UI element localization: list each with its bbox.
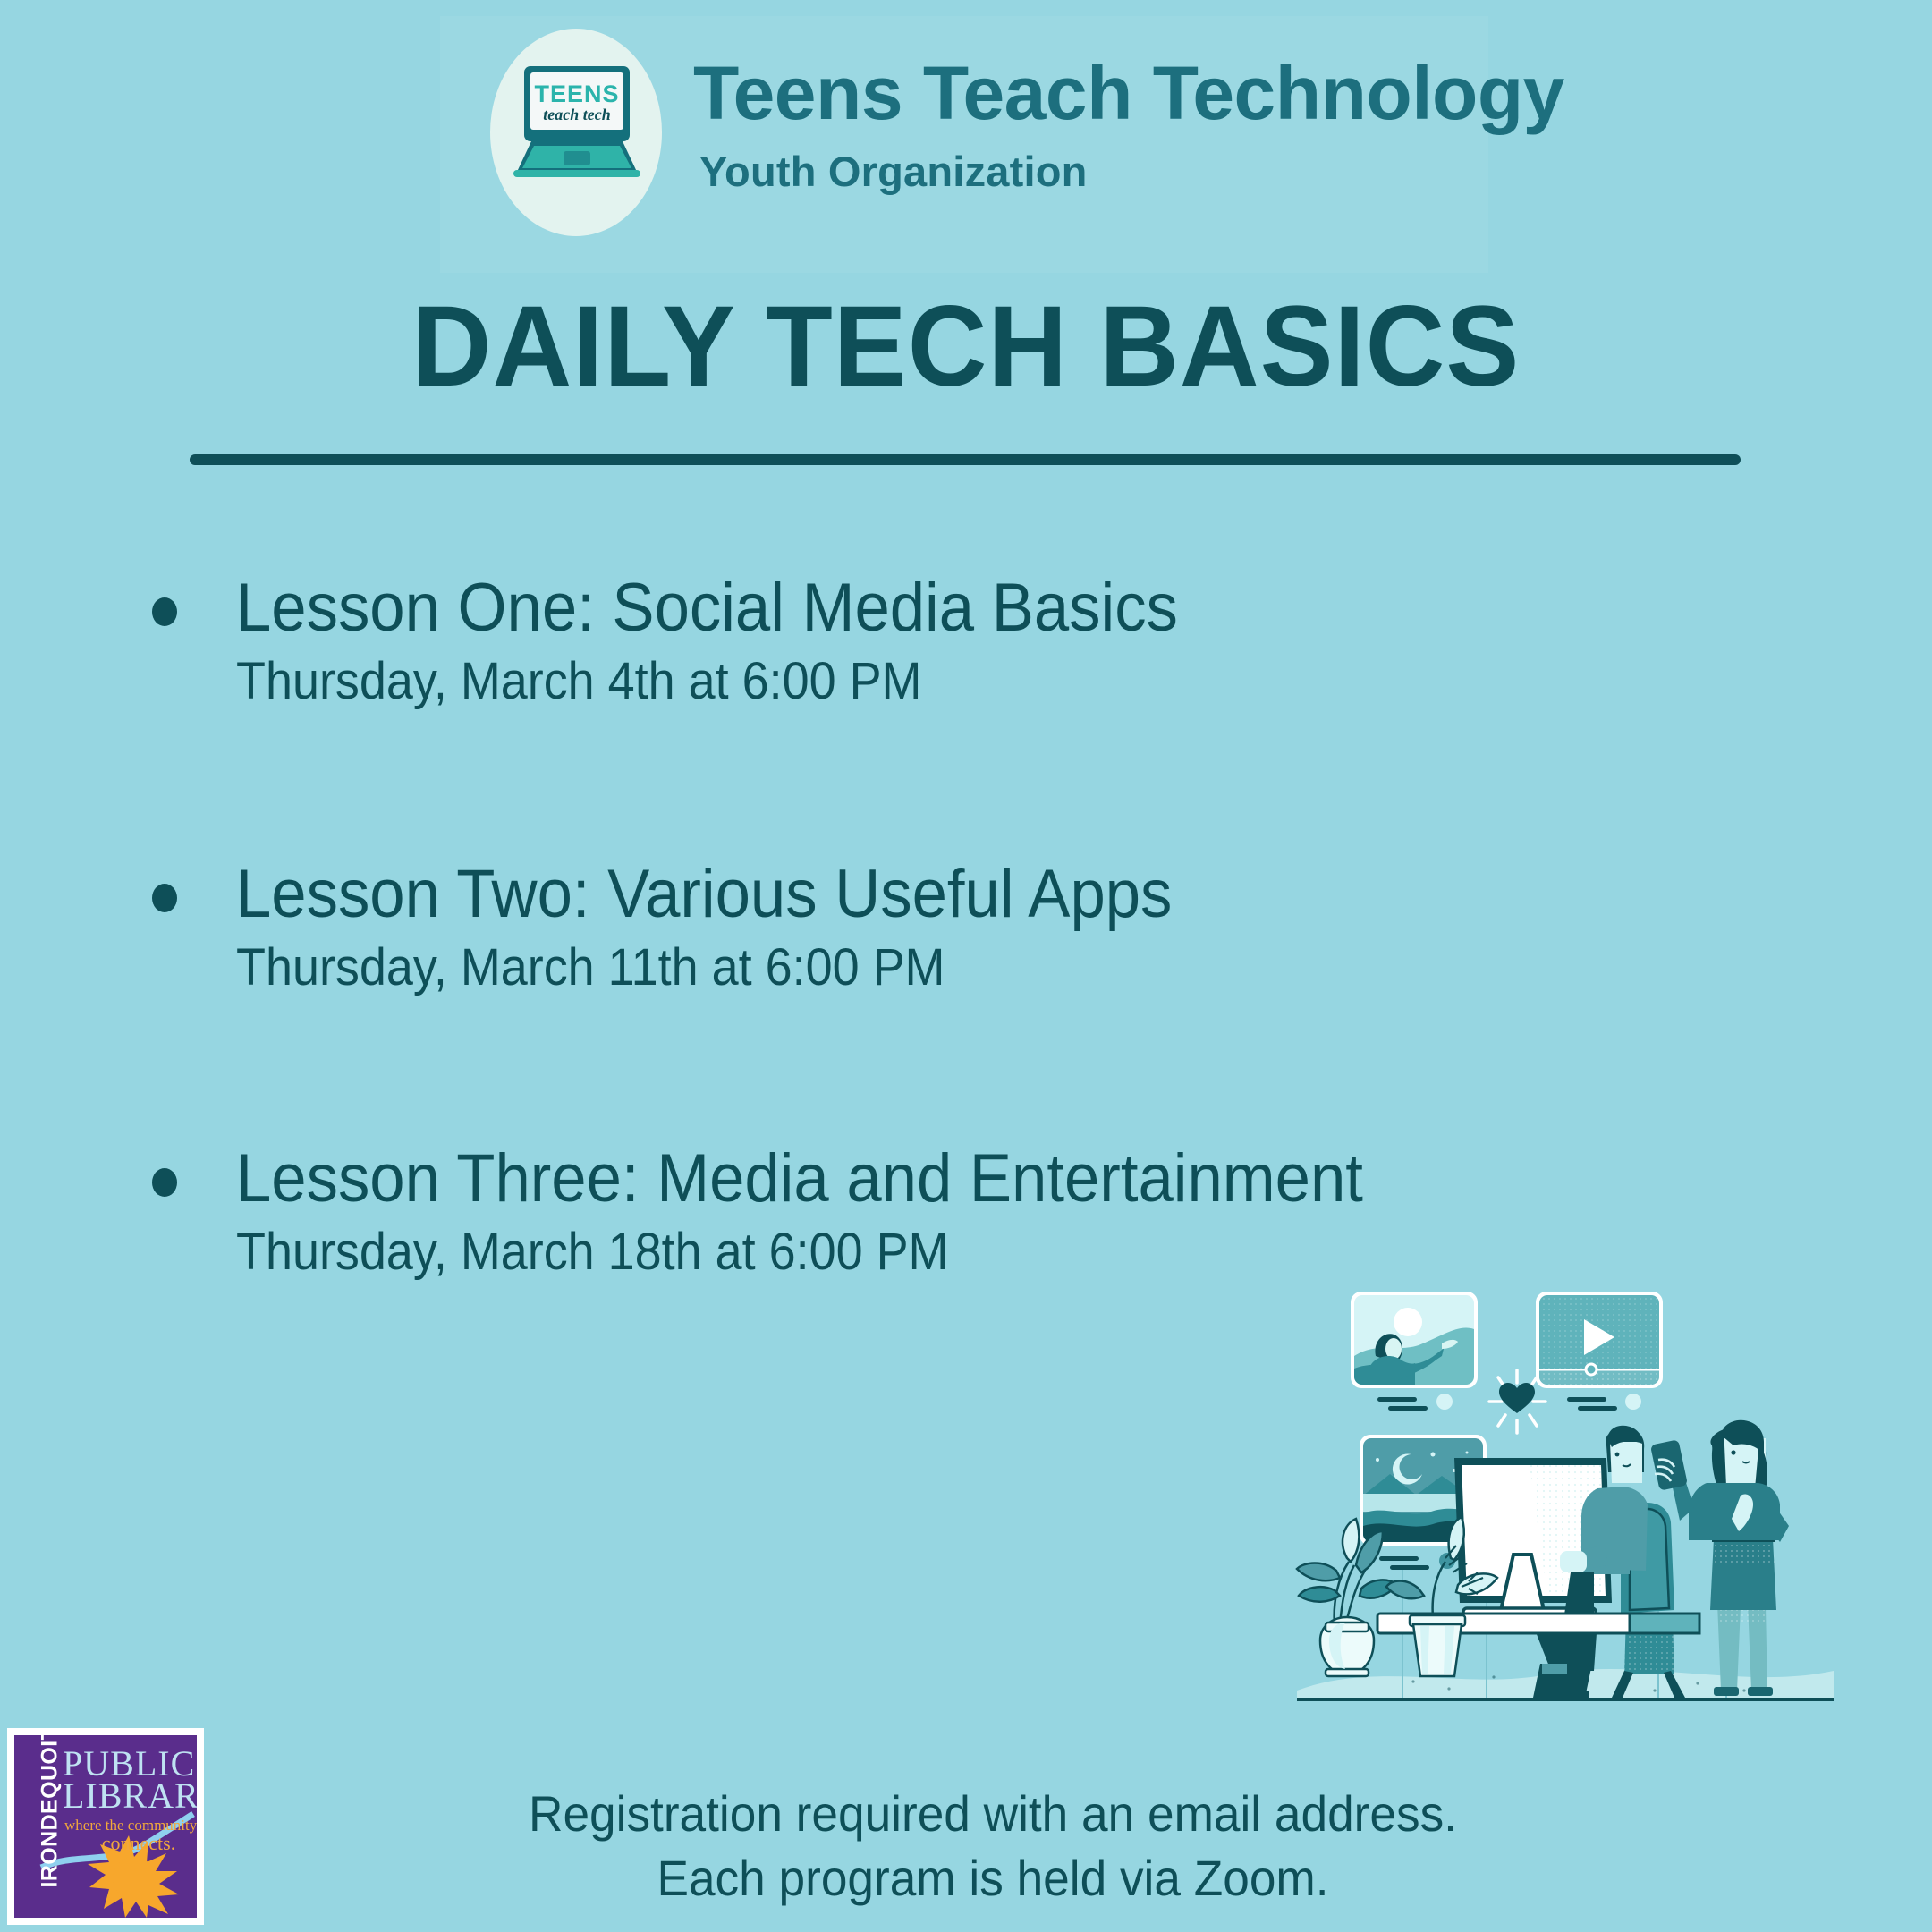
- brand-logo: TEENS teach tech: [490, 29, 662, 236]
- bullet-dot-icon: [152, 597, 177, 626]
- laptop-icon: TEENS teach tech: [512, 64, 642, 179]
- title-divider: [190, 454, 1741, 465]
- library-vertical-name: IRONDEQUOIT: [39, 1735, 62, 1888]
- footer-line-2: Each program is held via Zoom.: [305, 1846, 1682, 1911]
- lesson-title: Lesson Three: Media and Entertainment: [236, 1143, 1363, 1215]
- svg-text:TEENS: TEENS: [534, 80, 619, 107]
- people-using-media-illustration: [1279, 1270, 1851, 1717]
- footer-note: Registration required with an email addr…: [305, 1782, 1682, 1910]
- lesson-date: Thursday, March 4th at 6:00 PM: [236, 655, 921, 709]
- lesson-date: Thursday, March 11th at 6:00 PM: [236, 941, 945, 996]
- brand-subtitle: Youth Organization: [699, 150, 1088, 192]
- potted-plant-icon: [1297, 1519, 1397, 1676]
- lesson-date: Thursday, March 18th at 6:00 PM: [236, 1225, 948, 1280]
- poster-canvas: TEENS teach tech Teens Teach Technology …: [0, 0, 1932, 1932]
- brand-name: Teens Teach Technology: [693, 55, 1564, 131]
- svg-text:teach tech: teach tech: [543, 106, 610, 123]
- lesson-title: Lesson One: Social Media Basics: [236, 572, 1178, 644]
- irondequoit-public-library-logo: IRONDEQUOIT PUBLIC LIBRARY where the com…: [7, 1728, 204, 1925]
- bullet-dot-icon: [152, 884, 177, 912]
- bullet-dot-icon: [152, 1168, 177, 1197]
- library-line-2: LIBRARY: [63, 1778, 195, 1814]
- footer-line-1: Registration required with an email addr…: [305, 1782, 1682, 1846]
- lesson-title: Lesson Two: Various Useful Apps: [236, 859, 1172, 930]
- library-logo-panel: IRONDEQUOIT PUBLIC LIBRARY where the com…: [14, 1735, 197, 1918]
- library-tagline-1: where the community: [64, 1818, 195, 1833]
- video-player-card-icon: [1536, 1292, 1663, 1411]
- page-title: DAILY TECH BASICS: [38, 290, 1894, 404]
- photo-card-icon: [1351, 1292, 1478, 1411]
- library-tagline-2: connects.: [82, 1834, 195, 1853]
